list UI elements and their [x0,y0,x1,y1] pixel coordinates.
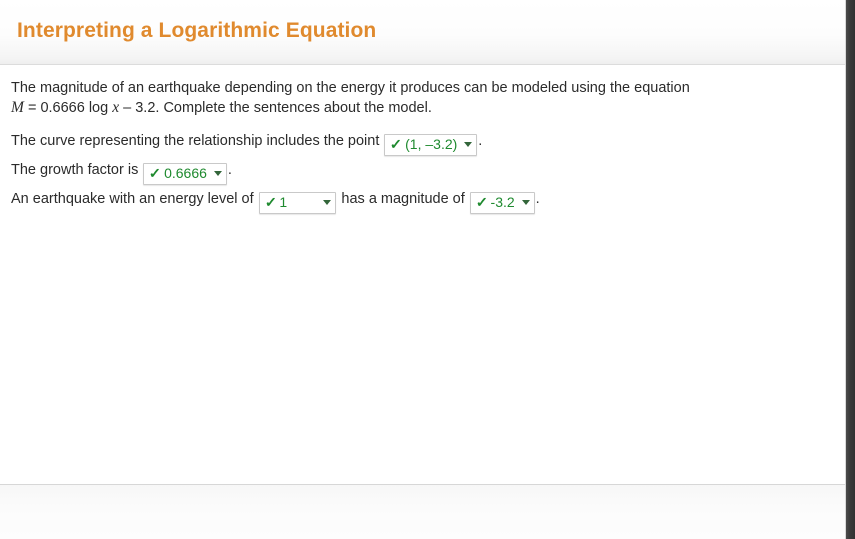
lesson-content: The magnitude of an earthquake depending… [0,66,846,484]
energy-level-sentence-suffix: . [536,191,540,207]
point-sentence-suffix: . [478,133,482,149]
correct-check-icon: ✓ [390,136,402,152]
equation-body: = 0.6666 log [24,100,112,116]
page-title: Interpreting a Logarithmic Equation [17,19,376,43]
caret-down-icon [464,142,472,147]
correct-check-icon: ✓ [264,194,276,210]
energy-level-sentence-prefix: An earthquake with an energy level of [11,191,258,207]
caret-down-icon [323,200,331,205]
window-scroll-gutter[interactable] [846,0,855,539]
growth-factor-dropdown[interactable]: ✓0.6666 [143,163,227,185]
magnitude-dropdown[interactable]: ✓-3.2 [470,192,535,214]
problem-statement-line1: The magnitude of an earthquake depending… [11,80,690,96]
growth-factor-dropdown-value: 0.6666 [164,165,207,181]
lesson-footer [0,484,846,539]
growth-factor-sentence: The growth factor is ✓0.6666. [11,156,846,185]
caret-down-icon [214,171,222,176]
caret-down-icon [522,200,530,205]
problem-statement-line2: Complete the sentences about the model. [159,100,431,116]
point-sentence-prefix: The curve representing the relationship … [11,133,383,149]
equation-tail: – 3.2. [119,100,159,116]
correct-check-icon: ✓ [149,165,161,181]
energy-level-sentence: An earthquake with an energy level of ✓1… [11,185,846,214]
magnitude-dropdown-value: -3.2 [491,194,515,210]
growth-factor-sentence-prefix: The growth factor is [11,162,142,178]
point-dropdown-value: (1, –3.2) [405,136,457,152]
growth-factor-sentence-suffix: . [228,162,232,178]
energy-level-dropdown[interactable]: ✓1 [259,192,337,214]
energy-level-dropdown-value: 1 [279,194,309,210]
point-dropdown[interactable]: ✓(1, –3.2) [384,134,477,156]
problem-statement: The magnitude of an earthquake depending… [11,79,781,118]
equation-variable-m: M [11,99,24,116]
lesson-header: Interpreting a Logarithmic Equation [0,0,846,65]
page-root: Interpreting a Logarithmic Equation The … [0,0,855,539]
energy-level-sentence-middle: has a magnitude of [337,191,468,207]
correct-check-icon: ✓ [476,194,488,210]
lesson-card: Interpreting a Logarithmic Equation The … [0,0,846,539]
point-sentence: The curve representing the relationship … [11,127,846,156]
